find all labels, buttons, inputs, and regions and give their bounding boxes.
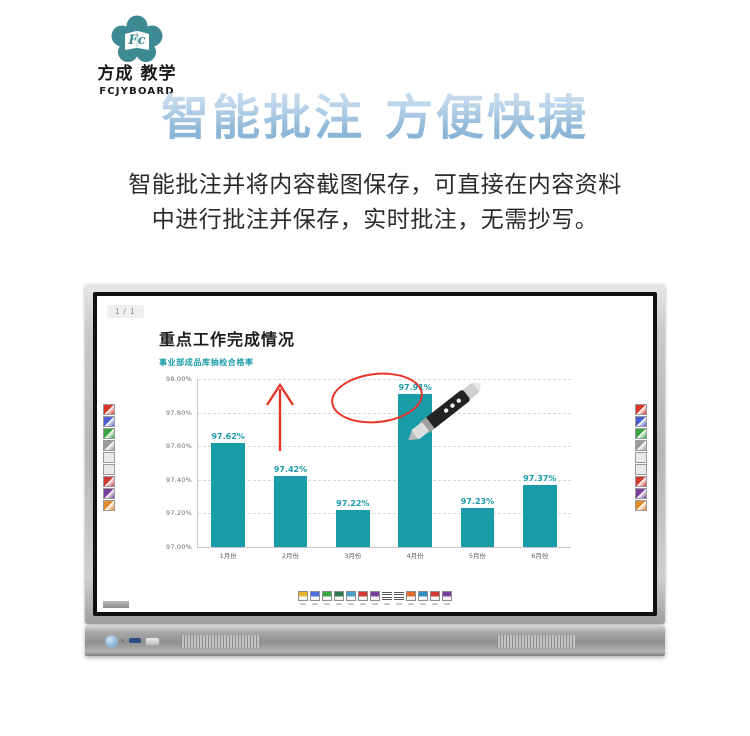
y-axis-tick-label: 97.20%: [166, 509, 192, 517]
toolbar-item-caption: ▬▬: [334, 602, 344, 606]
tool-palette-icon[interactable]: [635, 488, 647, 499]
x-axis-tick-label: 2月份: [263, 550, 317, 560]
chart-bar: [336, 510, 370, 547]
toolbar-color-chart[interactable]: ▬▬: [406, 591, 416, 606]
toolbar-save-icon: [334, 591, 344, 601]
bar-value-label: 97.23%: [461, 497, 494, 506]
tool-eraser-gray-icon[interactable]: [635, 440, 647, 451]
speaker-grille-right: [497, 635, 575, 648]
chart-plot-area: 98.00%97.80%97.60%97.40%97.20%97.00% 97.…: [159, 379, 571, 561]
toolbar-item-caption: ▬▬: [430, 602, 440, 606]
tool-undo-icon[interactable]: [635, 452, 647, 463]
toolbar-format[interactable]: ▬▬: [346, 591, 356, 606]
toolbar-new-icon: [298, 591, 308, 601]
right-tool-rail[interactable]: [635, 404, 647, 512]
interactive-whiteboard-device: 1 / 1 重点工作完成情况 事业部成品库抽检合格率 98.00%97.80%9…: [85, 284, 665, 656]
toolbar-align-lines[interactable]: ▬▬: [382, 591, 392, 606]
y-axis-tick-label: 97.80%: [166, 409, 192, 417]
chart-bar: [211, 443, 245, 547]
chart-bar-column: 97.22%: [326, 379, 380, 547]
tool-brush-blue-icon[interactable]: [635, 416, 647, 427]
tool-undo-icon[interactable]: [103, 452, 115, 463]
toolbar-edit-icon: [310, 591, 320, 601]
chart-bar-column: 97.37%: [513, 379, 567, 547]
toolbar-align-lines-icon: [382, 591, 392, 601]
toolbar-list-lines[interactable]: ▬▬: [394, 591, 404, 606]
toolbar-list-lines-icon: [394, 591, 404, 601]
toolbar-new[interactable]: ▬▬: [298, 591, 308, 606]
brand-name-cn: 方成 教学: [72, 65, 202, 85]
tool-delete-red-icon[interactable]: [103, 476, 115, 487]
tool-brush-blue-icon[interactable]: [103, 416, 115, 427]
toolbar-help-icon: [430, 591, 440, 601]
tool-redo-icon[interactable]: [103, 464, 115, 475]
chart-bar: [461, 508, 495, 547]
toolbar-table[interactable]: ▬▬: [418, 591, 428, 606]
brand-logo: Fc 方成 教学 FCJYBOARD: [72, 14, 202, 97]
page-subtitle: 智能批注并将内容截图保存，可直接在内容资料 中进行批注并保存，实时批注，无需抄写…: [45, 168, 705, 237]
x-axis-tick-label: 6月份: [513, 550, 567, 560]
toolbar-save[interactable]: ▬▬: [334, 591, 344, 606]
toolbar-insert-icon: [322, 591, 332, 601]
chart-bars: 97.62%97.42%97.22%97.91%97.23%97.37%: [197, 379, 571, 547]
toolbar-help[interactable]: ▬▬: [430, 591, 440, 606]
x-axis: 1月份2月份3月份4月份5月份6月份: [197, 550, 571, 560]
subtitle-line-1: 智能批注并将内容截图保存，可直接在内容资料: [45, 168, 705, 203]
toolbar-item-caption: ▬▬: [358, 602, 368, 606]
chart-subtitle: 事业部成品库抽检合格率: [159, 357, 579, 368]
toolbar-more[interactable]: ▬▬: [442, 591, 452, 606]
toolbar-view-icon: [370, 591, 380, 601]
toolbar-format-icon: [346, 591, 356, 601]
bar-value-label: 97.91%: [398, 383, 431, 392]
page-indicator: 1 / 1: [107, 305, 144, 318]
tool-highlighter-green-icon[interactable]: [635, 428, 647, 439]
bar-value-label: 97.62%: [211, 432, 244, 441]
application-toolbar[interactable]: ▬▬▬▬▬▬▬▬▬▬▬▬▬▬▬▬▬▬▬▬▬▬▬▬▬▬: [298, 591, 452, 606]
toolbar-insert[interactable]: ▬▬: [322, 591, 332, 606]
tool-save-orange-icon[interactable]: [635, 500, 647, 511]
toolbar-item-caption: ▬▬: [442, 602, 452, 606]
display-bezel: 1 / 1 重点工作完成情况 事业部成品库抽检合格率 98.00%97.80%9…: [85, 284, 665, 624]
x-axis-tick-label: 5月份: [450, 550, 504, 560]
x-axis-tick-label: 1月份: [201, 550, 255, 560]
whiteboard-screen[interactable]: 1 / 1 重点工作完成情况 事业部成品库抽检合格率 98.00%97.80%9…: [97, 296, 653, 612]
function-button-1[interactable]: [129, 638, 141, 643]
subtitle-line-2: 中进行批注并保存，实时批注，无需抄写。: [45, 203, 705, 238]
toolbar-item-caption: ▬▬: [346, 602, 356, 606]
bar-value-label: 97.22%: [336, 499, 369, 508]
page-headline: 智能批注 方便快捷: [0, 88, 750, 148]
y-axis-tick-label: 98.00%: [166, 375, 192, 383]
chart-bar-column: 97.23%: [450, 379, 504, 547]
toolbar-item-caption: ▬▬: [418, 602, 428, 606]
chart-bar: [398, 394, 432, 547]
tool-eraser-gray-icon[interactable]: [103, 440, 115, 451]
y-axis-tick-label: 97.40%: [166, 476, 192, 484]
x-axis-tick-label: 4月份: [388, 550, 442, 560]
bar-value-label: 97.37%: [523, 474, 556, 483]
chart-title: 重点工作完成情况: [159, 326, 579, 350]
y-axis-tick-label: 97.00%: [166, 543, 192, 551]
chart-bar-column: 97.42%: [263, 379, 317, 547]
speaker-grille-left: [181, 635, 259, 648]
toolbar-item-caption: ▬▬: [310, 602, 320, 606]
y-axis-tick-label: 97.60%: [166, 442, 192, 450]
toolbar-item-caption: ▬▬: [394, 602, 404, 606]
chart-container: 重点工作完成情况 事业部成品库抽检合格率 98.00%97.80%97.60%9…: [159, 326, 579, 596]
toolbar-item-caption: ▬▬: [382, 602, 392, 606]
chart-bar-column: 97.91%: [388, 379, 442, 547]
toolbar-more-icon: [442, 591, 452, 601]
tool-pen-red-icon[interactable]: [103, 404, 115, 415]
toolbar-review-icon: [358, 591, 368, 601]
svg-text:Fc: Fc: [127, 33, 145, 48]
bar-value-label: 97.42%: [274, 465, 307, 474]
function-button-2[interactable]: [145, 637, 160, 646]
toolbar-view[interactable]: ▬▬: [370, 591, 380, 606]
tool-save-orange-icon[interactable]: [103, 500, 115, 511]
tool-highlighter-green-icon[interactable]: [103, 428, 115, 439]
status-led: [121, 639, 124, 642]
device-base-bar: [85, 626, 665, 656]
toolbar-item-caption: ▬▬: [370, 602, 380, 606]
power-button[interactable]: [105, 635, 118, 648]
toolbar-color-chart-icon: [406, 591, 416, 601]
toolbar-item-caption: ▬▬: [298, 602, 308, 606]
left-tool-rail[interactable]: [103, 404, 115, 512]
chart-bar: [274, 476, 308, 547]
toolbar-edit[interactable]: ▬▬: [310, 591, 320, 606]
flower-book-logo-icon: Fc: [109, 14, 165, 64]
chart-bar: [523, 485, 557, 547]
tool-delete-red-icon[interactable]: [635, 476, 647, 487]
toolbar-item-caption: ▬▬: [406, 602, 416, 606]
chart-bar-column: 97.62%: [201, 379, 255, 547]
tool-redo-icon[interactable]: [635, 464, 647, 475]
toolbar-item-caption: ▬▬: [322, 602, 332, 606]
x-axis-tick-label: 3月份: [326, 550, 380, 560]
tool-pen-red-icon[interactable]: [635, 404, 647, 415]
toolbar-review[interactable]: ▬▬: [358, 591, 368, 606]
toolbar-table-icon: [418, 591, 428, 601]
tool-palette-icon[interactable]: [103, 488, 115, 499]
y-axis: 98.00%97.80%97.60%97.40%97.20%97.00%: [159, 379, 195, 547]
taskbar-chip[interactable]: [103, 601, 129, 608]
